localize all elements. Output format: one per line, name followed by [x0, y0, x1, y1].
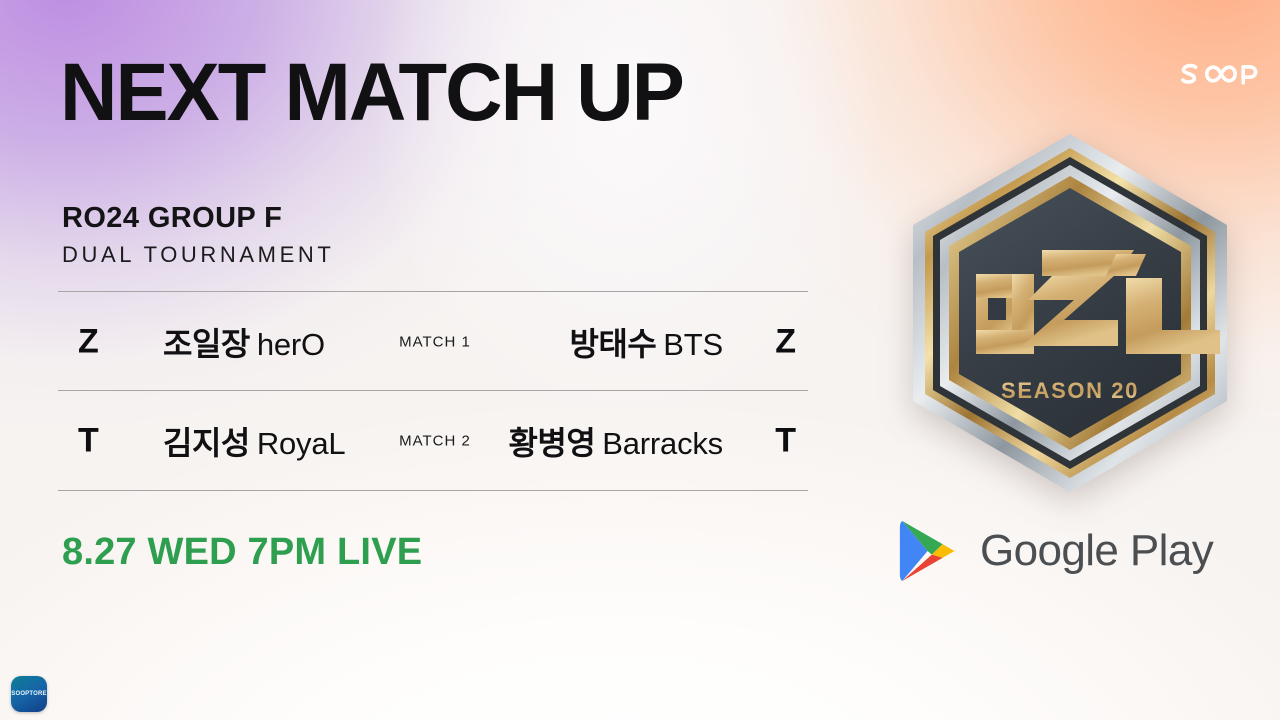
player-nick-left: herO	[257, 327, 325, 362]
google-play-icon	[898, 518, 958, 584]
player-left: 조일장herO	[163, 319, 325, 365]
divider-bottom	[58, 490, 808, 491]
schedule-text: 8.27 WED 7PM LIVE	[62, 531, 422, 574]
sooptore-watermark-label: SOOPTORE	[11, 691, 47, 697]
tournament-format-label: DUAL TOURNAMENT	[62, 242, 334, 268]
asl-season-label: SEASON 20	[1001, 378, 1139, 403]
page-title: NEXT MATCH UP	[60, 52, 683, 134]
soop-logo	[1178, 60, 1258, 94]
player-nick-right: BTS	[663, 327, 723, 362]
match-row: T 김지성RoyaL MATCH 2 황병영Barracks T	[58, 391, 808, 490]
match-row: Z 조일장herO MATCH 1 방태수BTS Z	[58, 292, 808, 391]
player-name-right: 황병영	[508, 425, 595, 461]
player-right: 황병영Barracks	[508, 418, 723, 464]
sooptore-watermark-icon: SOOPTORE	[11, 676, 47, 712]
player-name-left: 조일장	[163, 326, 250, 362]
tournament-round-label: RO24 GROUP F	[62, 202, 282, 235]
player-name-right: 방태수	[569, 326, 656, 362]
player-nick-left: RoyaL	[257, 426, 346, 461]
race-icon-left: T	[78, 421, 99, 460]
player-name-left: 김지성	[163, 425, 250, 461]
google-play-label: Google Play	[980, 526, 1213, 576]
match-label: MATCH 2	[375, 432, 495, 449]
race-icon-left: Z	[78, 322, 99, 361]
player-right: 방태수BTS	[569, 319, 723, 365]
main-content-panel: NEXT MATCH UP RO24 GROUP F DUAL TOURNAME…	[0, 0, 880, 720]
match-label: MATCH 1	[375, 333, 495, 350]
google-play-badge[interactable]: Google Play	[898, 512, 1228, 590]
race-icon-right: Z	[775, 322, 796, 361]
player-left: 김지성RoyaL	[163, 418, 345, 464]
asl-season-20-logo: SEASON 20	[900, 128, 1240, 498]
race-icon-right: T	[775, 421, 796, 460]
player-nick-right: Barracks	[602, 426, 723, 461]
